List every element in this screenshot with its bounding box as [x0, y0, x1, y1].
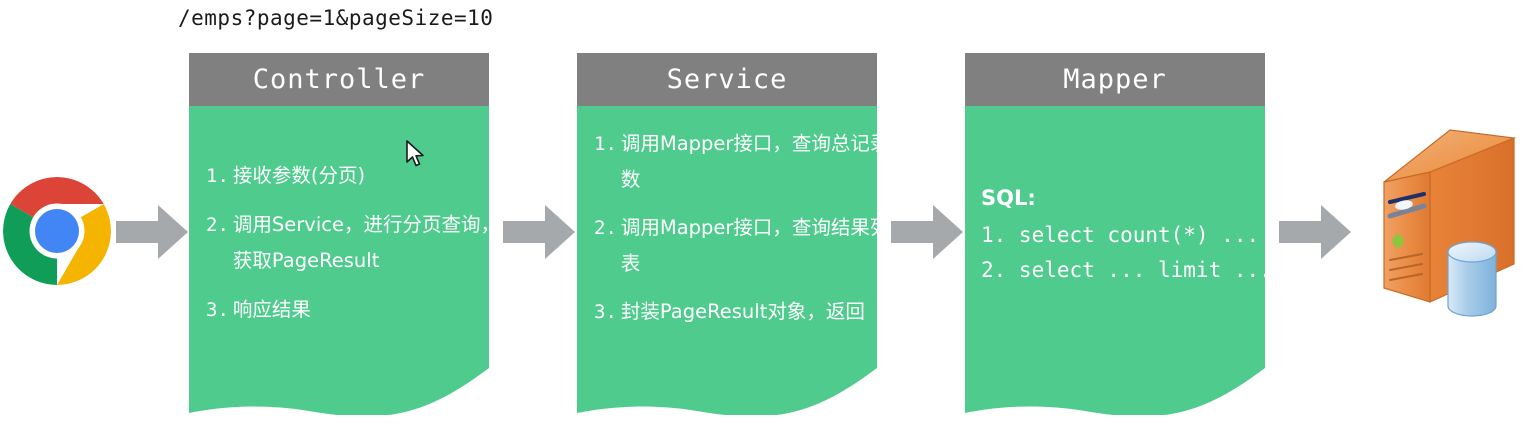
server-database-icon: [1378, 124, 1530, 334]
list-item: 2. 调用Service，进行分页查询，获取PageResult: [206, 207, 506, 279]
request-url-label: /emps?page=1&pageSize=10: [178, 6, 493, 30]
chrome-logo: [2, 176, 112, 286]
step-text: 接收参数(分页): [233, 158, 506, 194]
step-number: 1.: [206, 158, 233, 194]
step-number: 2.: [206, 207, 233, 243]
step-text: 调用Service，进行分页查询，获取PageResult: [233, 207, 506, 279]
sql-line: 2. select ... limit ...: [981, 253, 1281, 288]
sql-heading: SQL:: [981, 183, 1281, 213]
step-text: 调用Mapper接口，查询总记录数: [621, 126, 894, 198]
card-body-mapper: SQL: 1. select count(*) ... 2. select ..…: [965, 106, 1291, 288]
card-title-controller: Controller: [189, 53, 489, 106]
card-title-service: Service: [577, 53, 877, 106]
card-title-mapper: Mapper: [965, 53, 1265, 106]
step-number: 3.: [594, 294, 621, 330]
right-arrow-icon-1: [116, 203, 188, 261]
step-number: 2.: [594, 210, 621, 246]
card-service: Service 1. 调用Mapper接口，查询总记录数 2. 调用Mapper…: [577, 53, 877, 415]
step-number: 1.: [594, 126, 621, 162]
diagram-canvas: /emps?page=1&pageSize=10: [0, 0, 1532, 440]
step-text: 响应结果: [233, 292, 506, 328]
list-item: 2. 调用Mapper接口，查询结果列表: [594, 210, 894, 282]
step-text: 调用Mapper接口，查询结果列表: [621, 210, 894, 282]
step-number: 3.: [206, 292, 233, 328]
list-item: 1. 调用Mapper接口，查询总记录数: [594, 126, 894, 198]
list-item: 1. 接收参数(分页): [206, 158, 506, 194]
step-list-service: 1. 调用Mapper接口，查询总记录数 2. 调用Mapper接口，查询结果列…: [594, 126, 894, 330]
sql-line: 1. select count(*) ...: [981, 218, 1281, 253]
card-body-service: 1. 调用Mapper接口，查询总记录数 2. 调用Mapper接口，查询结果列…: [577, 106, 908, 342]
card-controller: Controller 1. 接收参数(分页) 2. 调用Service，进行分页…: [189, 53, 489, 415]
step-text: 封装PageResult对象，返回: [621, 294, 894, 330]
list-item: 3. 封装PageResult对象，返回: [594, 294, 894, 330]
list-item: 3. 响应结果: [206, 292, 506, 328]
step-list-controller: 1. 接收参数(分页) 2. 调用Service，进行分页查询，获取PageRe…: [206, 158, 506, 328]
card-mapper: Mapper SQL: 1. select count(*) ... 2. se…: [965, 53, 1265, 415]
card-body-controller: 1. 接收参数(分页) 2. 调用Service，进行分页查询，获取PageRe…: [189, 106, 522, 341]
